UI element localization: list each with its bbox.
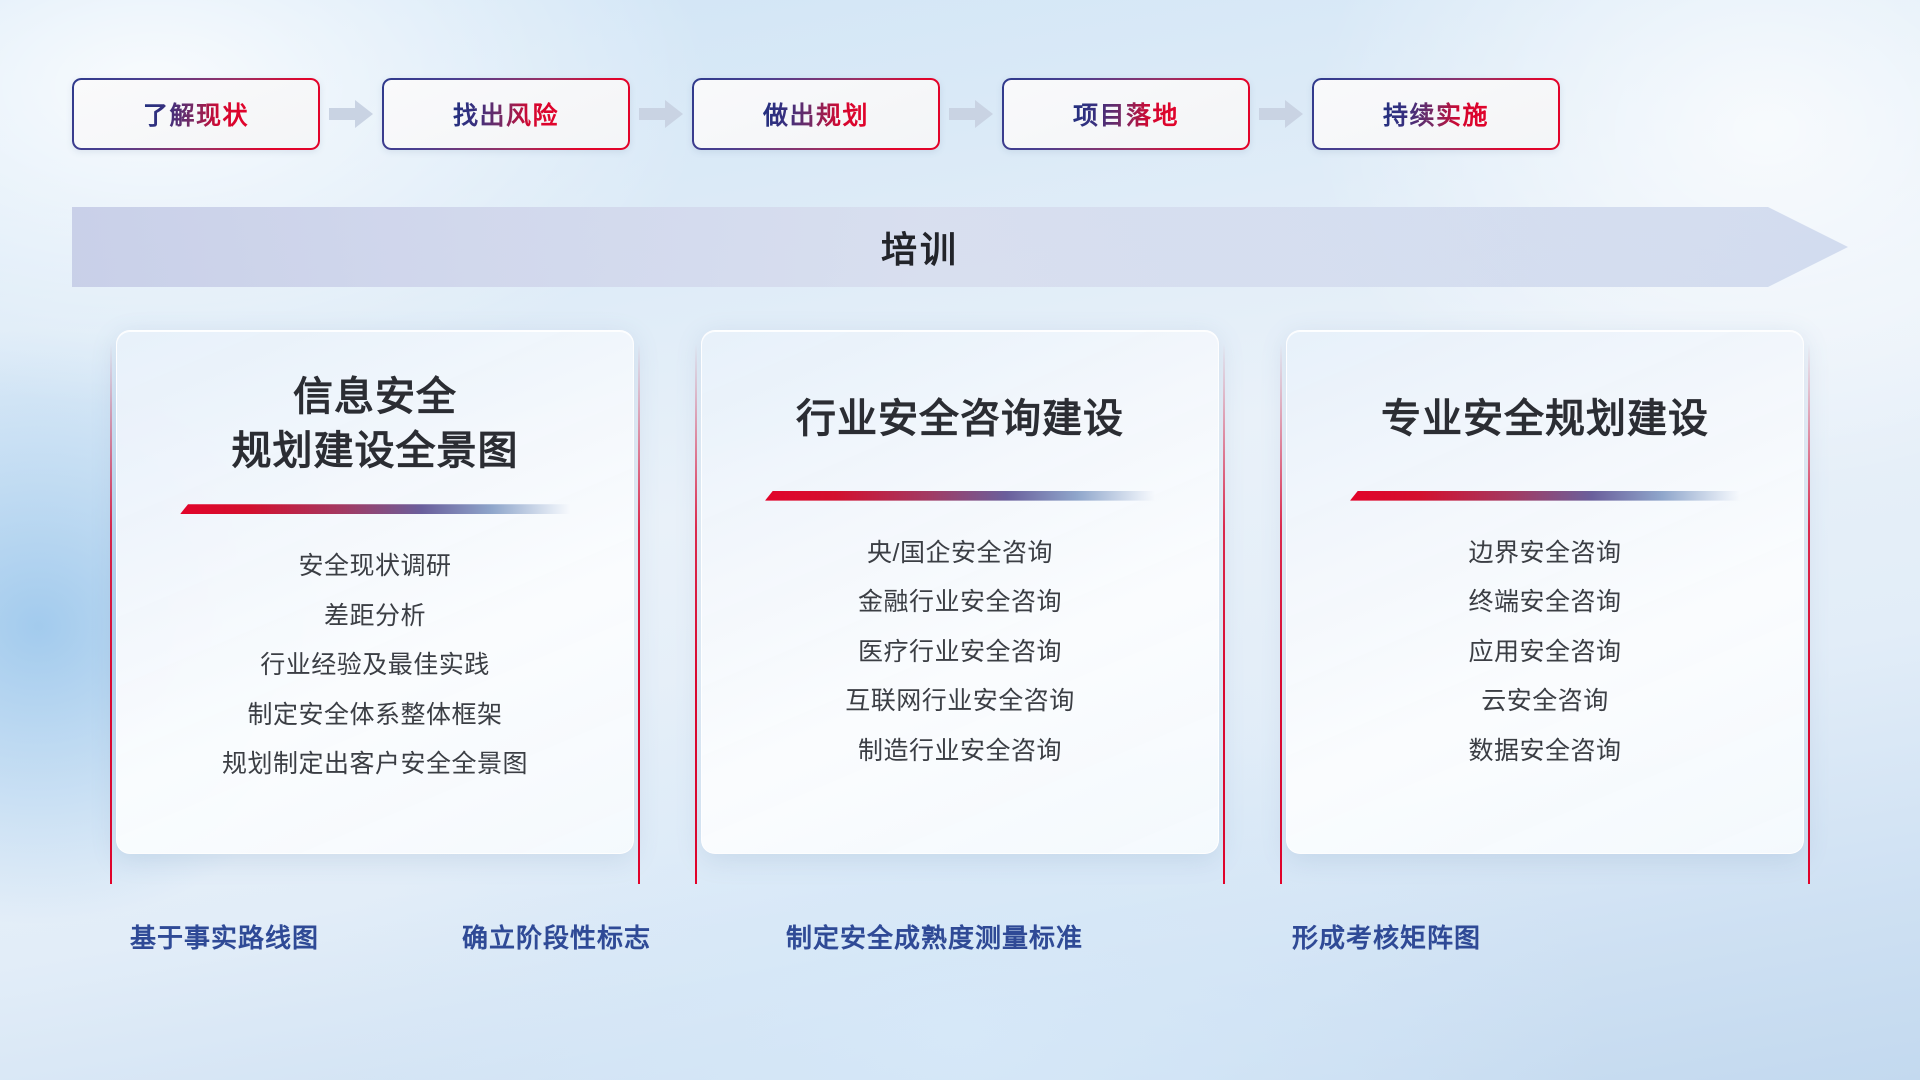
arrow-right-icon xyxy=(329,99,373,129)
card-title: 行业安全咨询建设 xyxy=(796,393,1124,447)
bottom-label-2: 制定安全成熟度测量标准 xyxy=(786,918,1083,955)
process-step-3[interactable]: 项目落地 xyxy=(1002,78,1250,150)
bottom-label-3: 形成考核矩阵图 xyxy=(1292,918,1481,955)
list-item: 安全现状调研 xyxy=(298,546,451,587)
card-wrapper-2: 专业安全规划建设 边界安全咨询 终端安全咨询 应用安全咨询 云安全咨询 数据安全… xyxy=(1280,330,1810,870)
training-banner: 培训 xyxy=(72,207,1848,287)
list-item: 边界安全咨询 xyxy=(1468,533,1621,574)
card-accent-left xyxy=(1280,344,1282,884)
card-0[interactable]: 信息安全 规划建设全景图 安全现状调研 差距分析 行业经验及最佳实践 制定安全体… xyxy=(116,330,634,854)
arrow-right-icon xyxy=(949,99,993,129)
card-item-list: 安全现状调研 差距分析 行业经验及最佳实践 制定安全体系整体框架 规划制定出客户… xyxy=(222,546,528,785)
card-1[interactable]: 行业安全咨询建设 央/国企安全咨询 金融行业安全咨询 医疗行业安全咨询 互联网行… xyxy=(701,330,1219,854)
card-accent-right xyxy=(1223,344,1225,884)
process-step-1[interactable]: 找出风险 xyxy=(382,78,630,150)
card-accent-left xyxy=(110,344,112,884)
bottom-labels-row: 基于事实路线图 确立阶段性标志 制定安全成熟度测量标准 形成考核矩阵图 xyxy=(0,918,1920,966)
bottom-label-1: 确立阶段性标志 xyxy=(462,918,651,955)
process-step-0[interactable]: 了解现状 xyxy=(72,78,320,150)
list-item: 终端安全咨询 xyxy=(1468,582,1621,623)
list-item: 规划制定出客户安全全景图 xyxy=(222,744,528,785)
list-item: 互联网行业安全咨询 xyxy=(845,681,1075,722)
list-item: 数据安全咨询 xyxy=(1468,731,1621,772)
list-item: 央/国企安全咨询 xyxy=(867,533,1053,574)
process-steps-row: 了解现状 找出风险 做出规划 项目落地 持续实施 xyxy=(72,78,1848,150)
list-item: 云安全咨询 xyxy=(1481,681,1609,722)
bottom-label-0: 基于事实路线图 xyxy=(130,918,319,955)
list-item: 应用安全咨询 xyxy=(1468,632,1621,673)
process-step-label: 持续实施 xyxy=(1383,96,1489,132)
card-accent-left xyxy=(695,344,697,884)
card-wrapper-1: 行业安全咨询建设 央/国企安全咨询 金融行业安全咨询 医疗行业安全咨询 互联网行… xyxy=(695,330,1225,870)
process-step-label: 项目落地 xyxy=(1073,96,1179,132)
process-step-label: 做出规划 xyxy=(763,96,869,132)
arrow-right-icon xyxy=(639,99,683,129)
card-accent-right xyxy=(1808,344,1810,884)
card-accent-right xyxy=(638,344,640,884)
arrow-right-icon xyxy=(1259,99,1303,129)
process-step-label: 了解现状 xyxy=(143,96,249,132)
process-step-label: 找出风险 xyxy=(453,96,559,132)
card-2[interactable]: 专业安全规划建设 边界安全咨询 终端安全咨询 应用安全咨询 云安全咨询 数据安全… xyxy=(1286,330,1804,854)
card-title: 专业安全规划建设 xyxy=(1381,393,1709,447)
process-step-2[interactable]: 做出规划 xyxy=(692,78,940,150)
card-divider xyxy=(1350,491,1740,501)
list-item: 医疗行业安全咨询 xyxy=(858,632,1062,673)
list-item: 制造行业安全咨询 xyxy=(858,731,1062,772)
cards-row: 信息安全 规划建设全景图 安全现状调研 差距分析 行业经验及最佳实践 制定安全体… xyxy=(110,330,1810,870)
list-item: 行业经验及最佳实践 xyxy=(260,645,490,686)
list-item: 金融行业安全咨询 xyxy=(858,582,1062,623)
card-item-list: 央/国企安全咨询 金融行业安全咨询 医疗行业安全咨询 互联网行业安全咨询 制造行… xyxy=(845,533,1075,772)
list-item: 差距分析 xyxy=(324,596,426,637)
banner-title: 培训 xyxy=(72,207,1768,287)
card-item-list: 边界安全咨询 终端安全咨询 应用安全咨询 云安全咨询 数据安全咨询 xyxy=(1468,533,1621,772)
card-title: 信息安全 规划建设全景图 xyxy=(232,371,519,478)
card-divider xyxy=(180,504,570,514)
card-divider xyxy=(765,491,1155,501)
list-item: 制定安全体系整体框架 xyxy=(247,695,502,736)
process-step-4[interactable]: 持续实施 xyxy=(1312,78,1560,150)
card-wrapper-0: 信息安全 规划建设全景图 安全现状调研 差距分析 行业经验及最佳实践 制定安全体… xyxy=(110,330,640,870)
